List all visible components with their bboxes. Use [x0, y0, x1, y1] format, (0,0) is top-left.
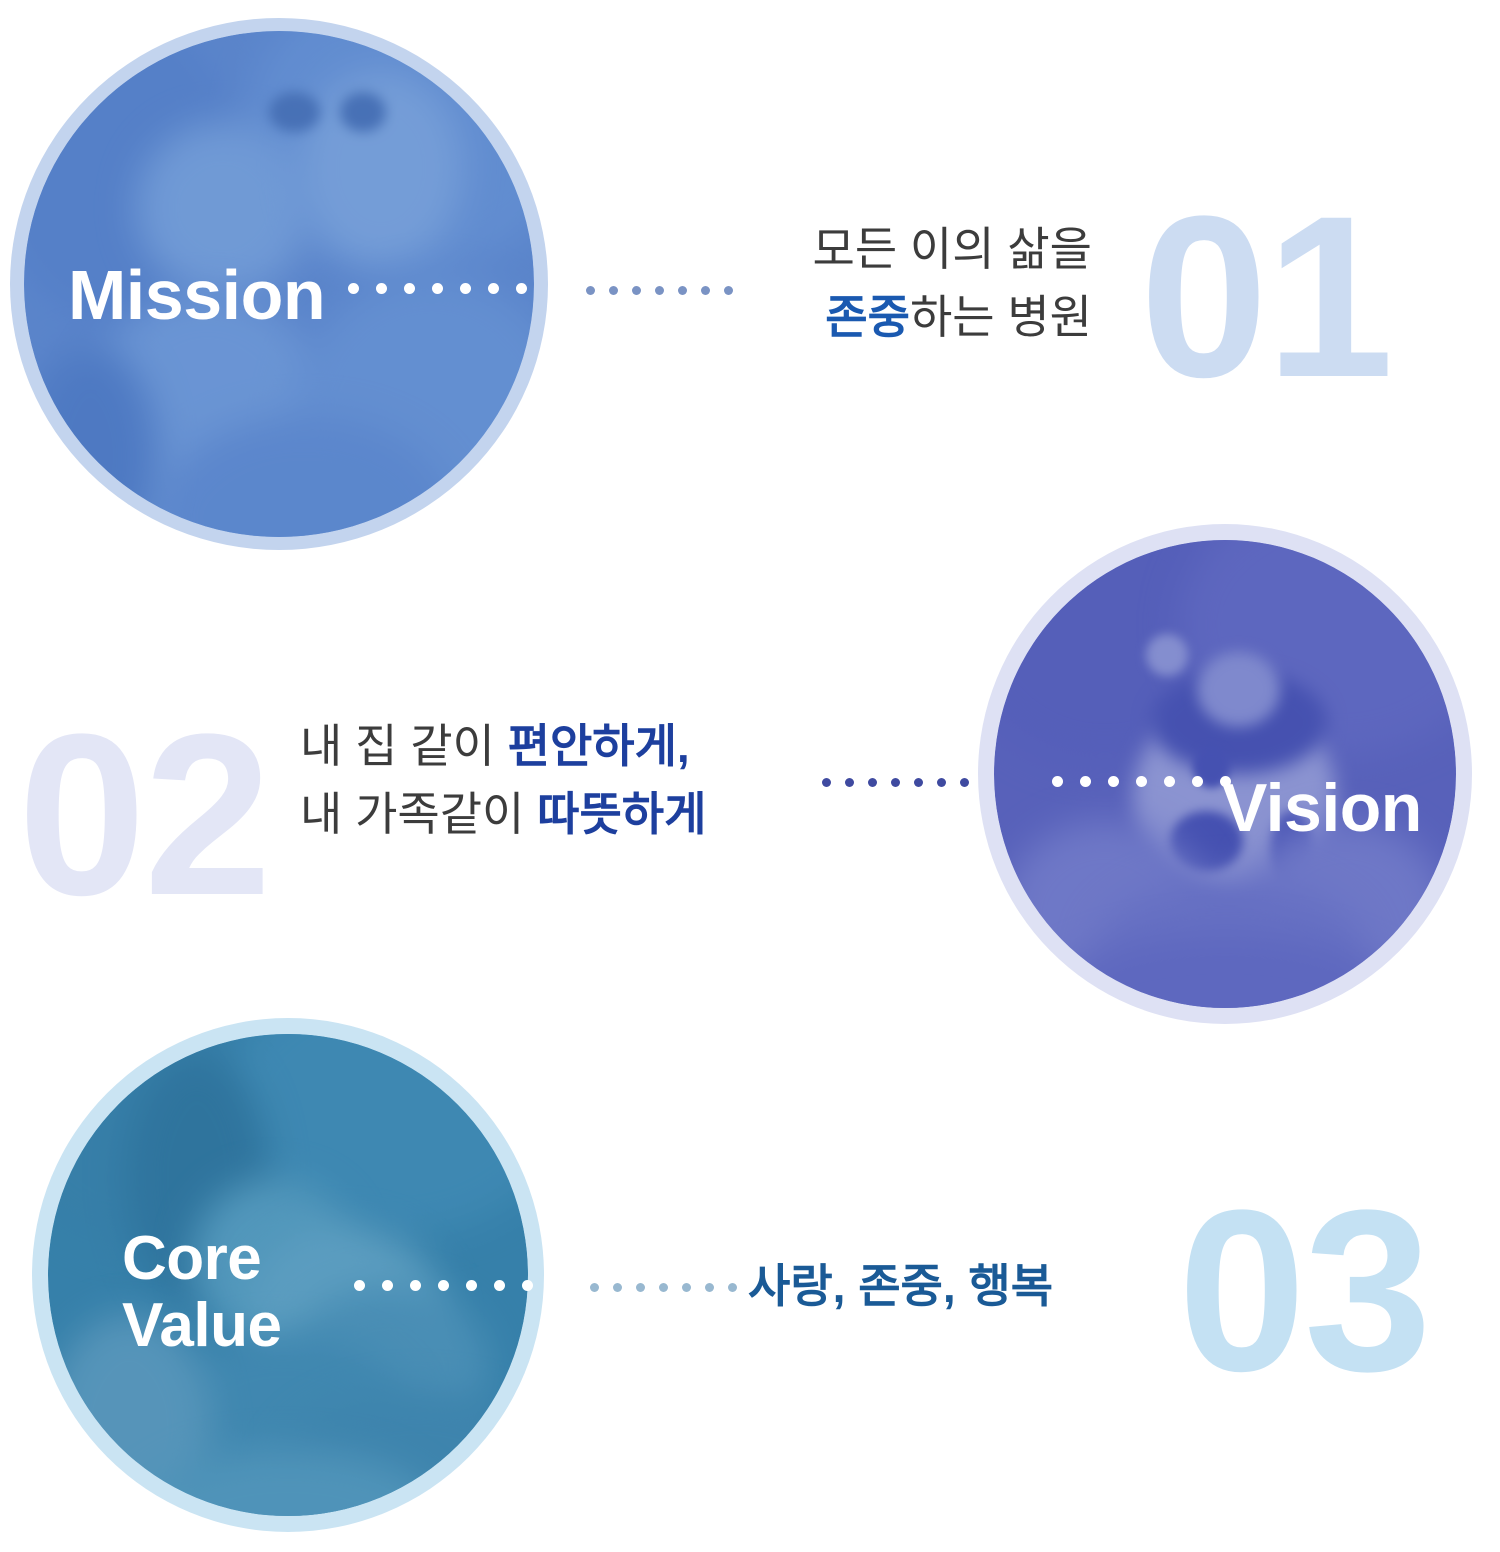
vision-dots-inner: [1052, 776, 1231, 787]
core-value-copy-highlight: 사랑, 존중, 행복: [748, 1260, 1053, 1312]
vision-circle[interactable]: Vision: [978, 524, 1472, 1024]
core-value-copy: 사랑, 존중, 행복: [748, 1252, 1053, 1320]
core-value-index-number: 03: [1178, 1176, 1430, 1406]
vision-copy-line-2: 내 가족같이 따뜻하게: [300, 780, 706, 848]
vision-circle-label: Vision: [1222, 772, 1422, 845]
core-value-dots-outer: [590, 1283, 737, 1292]
mission-vision-value-infographic: Mission 모든 이의 삶을 존중하는 병원 01: [0, 0, 1500, 1552]
mission-copy-line-1: 모든 이의 삶을: [700, 215, 1092, 283]
mission-copy-highlight: 존중: [825, 291, 910, 343]
vision-copy: 내 집 같이 편안하게, 내 가족같이 따뜻하게: [300, 712, 706, 848]
vision-copy-line-1: 내 집 같이 편안하게,: [300, 712, 706, 780]
mission-index-number: 01: [1140, 182, 1392, 412]
core-value-circle[interactable]: Core Value: [32, 1018, 544, 1532]
mission-copy-seg: 모든 이의 삶을: [813, 223, 1092, 275]
mission-copy: 모든 이의 삶을 존중하는 병원: [700, 215, 1092, 351]
vision-copy-highlight: 편안하게,: [508, 720, 690, 772]
core-value-circle-label: Core Value: [122, 1226, 282, 1360]
mission-dots-outer: [586, 286, 733, 295]
vision-dots-outer: [822, 778, 969, 787]
mission-dots-inner: [348, 283, 527, 294]
mission-circle-label: Mission: [68, 258, 325, 334]
mission-copy-line-2: 존중하는 병원: [700, 283, 1092, 351]
mission-copy-seg: 하는 병원: [910, 291, 1092, 343]
vision-index-number: 02: [18, 700, 270, 930]
core-value-copy-line-1: 사랑, 존중, 행복: [748, 1252, 1053, 1320]
core-value-dots-inner: [354, 1280, 533, 1291]
vision-copy-seg: 내 집 같이: [300, 720, 508, 772]
vision-copy-highlight: 따뜻하게: [537, 788, 706, 840]
core-value-photo: [48, 1034, 528, 1516]
vision-copy-seg: 내 가족같이: [300, 788, 537, 840]
